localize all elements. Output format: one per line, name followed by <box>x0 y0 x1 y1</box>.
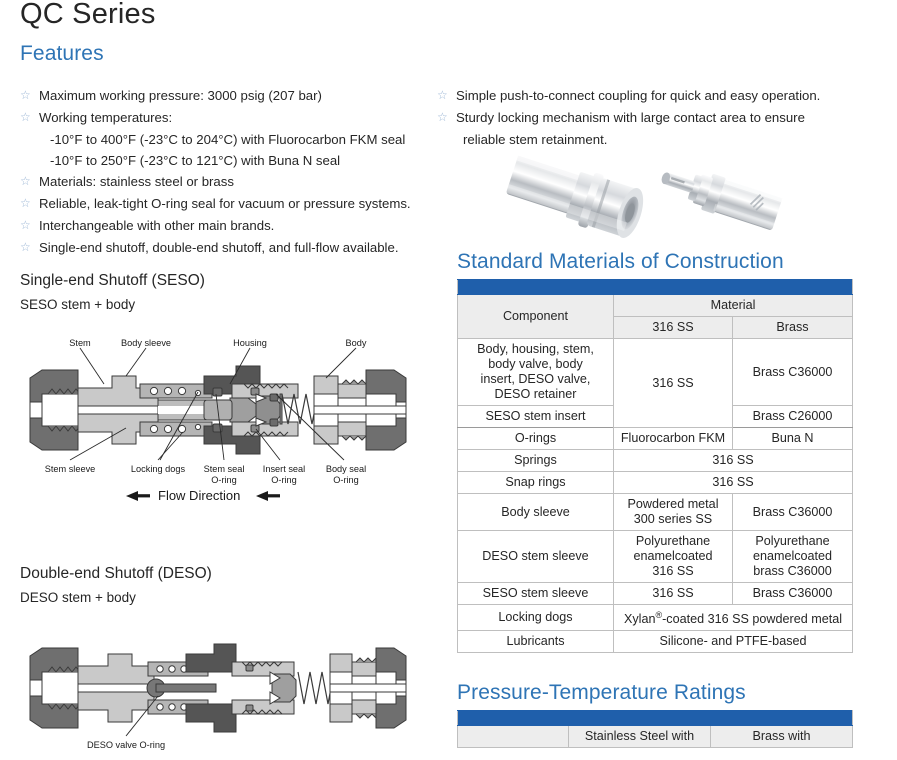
table-row: DESO stem sleevePolyurethaneenamelcoated… <box>458 531 853 583</box>
table-header-row: ComponentMaterial <box>458 295 853 317</box>
feature-item: ☆Working temperatures: <box>20 107 440 128</box>
table-accent-bar <box>458 711 853 726</box>
svg-text:O-ring: O-ring <box>333 475 359 485</box>
table-row: O-ringsFluorocarbon FKMBuna N <box>458 428 853 450</box>
cell-brass: Brass C36000 <box>733 339 853 406</box>
cell-component: Springs <box>458 450 614 472</box>
star-bullet-icon: ☆ <box>437 107 448 128</box>
features-heading: Features <box>20 42 104 66</box>
cell-316ss: Powdered metal300 series SS <box>614 494 733 531</box>
star-bullet-icon: ☆ <box>20 85 31 106</box>
feature-item-label: Working temperatures: <box>39 110 172 125</box>
features-list-left: ☆Maximum working pressure: 3000 psig (20… <box>20 85 440 259</box>
cell-component: Body sleeve <box>458 494 614 531</box>
deso-subtitle: DESO stem + body <box>20 590 136 605</box>
table-row: Body sleevePowdered metal300 series SSBr… <box>458 494 853 531</box>
feature-subitem: -10°F to 400°F (-23°C to 204°C) with Flu… <box>20 129 440 150</box>
seso-callout-insert-seal: Insert seal <box>263 464 305 474</box>
seso-callout-stem-sleeve: Stem sleeve <box>45 464 96 474</box>
seso-callout-body: Body <box>346 338 367 348</box>
flow-direction-indicator: Flow Direction <box>126 488 280 502</box>
cell-material-span: Silicone- and PTFE-based <box>614 631 853 653</box>
cell-316ss: Fluorocarbon FKM <box>614 428 733 450</box>
features-list-right: ☆Simple push-to-connect coupling for qui… <box>437 85 877 150</box>
star-bullet-icon: ☆ <box>20 171 31 192</box>
cell-brass: Brass C36000 <box>733 583 853 605</box>
col-316ss: 316 SS <box>614 317 733 339</box>
ptr-col-brass: Brass with <box>711 726 853 748</box>
cell-brass: Buna N <box>733 428 853 450</box>
pressure-temperature-table: Stainless Steel with Brass with <box>457 710 853 748</box>
col-material: Material <box>614 295 853 317</box>
cell-brass: Polyurethaneenamelcoatedbrass C36000 <box>733 531 853 583</box>
feature-item-label: Simple push-to-connect coupling for quic… <box>456 88 820 103</box>
feature-item: ☆Simple push-to-connect coupling for qui… <box>437 85 877 106</box>
cell-316ss: Polyurethaneenamelcoated316 SS <box>614 531 733 583</box>
deso-title: Double-end Shutoff (DESO) <box>20 565 212 583</box>
table-row: Springs316 SS <box>458 450 853 472</box>
table-accent-bar <box>458 280 853 295</box>
feature-item: ☆Reliable, leak-tight O-ring seal for va… <box>20 193 440 214</box>
cell-316ss: 316 SS <box>614 339 733 428</box>
feature-item-label: Single-end shutoff, double-end shutoff, … <box>39 240 398 255</box>
ptr-col-stainless: Stainless Steel with <box>569 726 711 748</box>
feature-item-label: Interchangeable with other main brands. <box>39 218 274 233</box>
materials-heading: Standard Materials of Construction <box>457 250 784 274</box>
datasheet-page: QC Series Features ☆Maximum working pres… <box>0 0 897 760</box>
materials-table: ComponentMaterial316 SSBrassBody, housin… <box>457 279 853 653</box>
flow-direction-label: Flow Direction <box>158 488 240 502</box>
star-bullet-icon: ☆ <box>20 215 31 236</box>
feature-item-label: Sturdy locking mechanism with large cont… <box>456 110 805 125</box>
seso-title: Single-end Shutoff (SESO) <box>20 272 205 290</box>
seso-callout-body-sleeve: Body sleeve <box>121 338 171 348</box>
feature-item-label: Materials: stainless steel or brass <box>39 174 234 189</box>
seso-callout-stem: Stem <box>69 338 91 348</box>
table-row: Snap rings316 SS <box>458 472 853 494</box>
feature-item: ☆Interchangeable with other main brands. <box>20 215 440 236</box>
product-photo <box>480 150 825 250</box>
col-brass: Brass <box>733 317 853 339</box>
seso-callout-body-seal: Body seal <box>326 464 366 474</box>
ptr-col-blank <box>458 726 569 748</box>
svg-text:O-ring: O-ring <box>271 475 297 485</box>
cell-316ss: 316 SS <box>614 583 733 605</box>
feature-item: ☆Single-end shutoff, double-end shutoff,… <box>20 237 440 258</box>
feature-item: ☆Sturdy locking mechanism with large con… <box>437 107 877 128</box>
seso-callout-housing: Housing <box>233 338 267 348</box>
feature-subitem: -10°F to 250°F (-23°C to 121°C) with Bun… <box>20 150 440 171</box>
cell-material-span: 316 SS <box>614 450 853 472</box>
cell-component: SESO stem sleeve <box>458 583 614 605</box>
cell-brass: Brass C26000 <box>733 406 853 428</box>
deso-cross-section-diagram: DESO valve O-ring <box>8 618 428 758</box>
col-component: Component <box>458 295 614 339</box>
cell-brass: Brass C36000 <box>733 494 853 531</box>
cell-component: Locking dogs <box>458 605 614 631</box>
cell-component: Lubricants <box>458 631 614 653</box>
cell-component: DESO stem sleeve <box>458 531 614 583</box>
seso-cross-section-diagram: Stem Body sleeve Housing Body Stem sleev… <box>8 332 428 502</box>
cell-component: SESO stem insert <box>458 406 614 428</box>
cell-component: Body, housing, stem,body valve, bodyinse… <box>458 339 614 406</box>
star-bullet-icon: ☆ <box>437 85 448 106</box>
cell-component: O-rings <box>458 428 614 450</box>
feature-item-label: Maximum working pressure: 3000 psig (207… <box>39 88 322 103</box>
cell-component: Snap rings <box>458 472 614 494</box>
svg-text:O-ring: O-ring <box>211 475 237 485</box>
star-bullet-icon: ☆ <box>20 107 31 128</box>
star-bullet-icon: ☆ <box>20 237 31 258</box>
table-row: Body, housing, stem,body valve, bodyinse… <box>458 339 853 406</box>
seso-callout-stem-seal: Stem seal <box>204 464 245 474</box>
feature-continuation: reliable stem retainment. <box>437 129 877 150</box>
feature-item: ☆Materials: stainless steel or brass <box>20 171 440 192</box>
star-bullet-icon: ☆ <box>20 193 31 214</box>
cell-material-span: 316 SS <box>614 472 853 494</box>
feature-item-label: Reliable, leak-tight O-ring seal for vac… <box>39 196 411 211</box>
table-row: Locking dogsXylan®-coated 316 SS powdere… <box>458 605 853 631</box>
seso-subtitle: SESO stem + body <box>20 297 135 312</box>
pressure-temperature-heading: Pressure-Temperature Ratings <box>457 681 746 705</box>
table-header-row: Stainless Steel with Brass with <box>458 726 853 748</box>
cell-material-span: Xylan®-coated 316 SS powdered metal <box>614 605 853 631</box>
table-row: LubricantsSilicone- and PTFE-based <box>458 631 853 653</box>
feature-item: ☆Maximum working pressure: 3000 psig (20… <box>20 85 440 106</box>
page-title: QC Series <box>20 0 156 31</box>
deso-callout-valve-oring: DESO valve O-ring <box>87 740 165 750</box>
table-row: SESO stem sleeve316 SSBrass C36000 <box>458 583 853 605</box>
seso-callout-locking-dogs: Locking dogs <box>131 464 186 474</box>
